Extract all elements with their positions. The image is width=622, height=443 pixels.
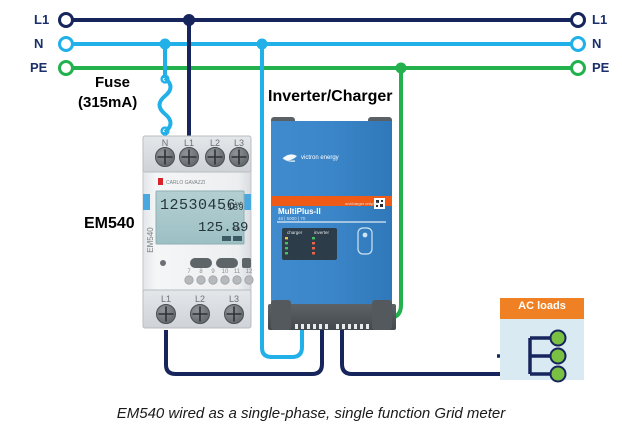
- bus-label-left-l1: L1: [34, 12, 49, 27]
- ac-loads-title: AC loads: [500, 300, 584, 312]
- wiring-diagram: N L1 L2 L3 L1 L2 L3 7 8 9 10 11 12 12530…: [0, 0, 622, 443]
- fuse-label-line1: Fuse: [95, 74, 130, 91]
- bus-label-right-n: N: [592, 36, 601, 51]
- inverter-panel-right-title: inverter: [314, 230, 330, 235]
- inverter-charger: [268, 117, 396, 330]
- meter-top-terminal-L3: L3: [234, 138, 244, 148]
- meter-bottom-terminal-L3: L3: [229, 294, 239, 304]
- lcd-primary-unit: kWh: [235, 201, 243, 207]
- diagram-caption: EM540 wired as a single-phase, single fu…: [0, 405, 622, 422]
- inverter-title: Inverter/Charger: [268, 88, 393, 106]
- bus-label-right-pe: PE: [592, 60, 609, 75]
- meter-side-text: EM540: [146, 227, 155, 253]
- meter-brand-text: CARLO GAVAZZI: [166, 180, 205, 186]
- inverter-model-text: MultiPlus-II: [278, 207, 321, 216]
- bus-label-left-pe: PE: [30, 60, 47, 75]
- meter-bottom-terminal-L2: L2: [195, 294, 205, 304]
- fuse-label-line2: (315mA): [78, 94, 137, 111]
- inverter-panel-left-title: charger: [287, 230, 303, 235]
- lcd-secondary-value: 125.89: [198, 220, 248, 236]
- meter-top-terminal-L1: L1: [184, 138, 194, 148]
- bus-label-right-l1: L1: [592, 12, 607, 27]
- meter-top-terminal-N: N: [162, 138, 169, 148]
- bus-label-left-n: N: [34, 36, 43, 51]
- meter-model-label: EM540: [84, 215, 135, 233]
- inverter-model-sub-text: 48 | 5000 | 70: [278, 216, 306, 221]
- meter-top-terminal-L2: L2: [210, 138, 220, 148]
- inverter-brand-text: victron energy: [301, 155, 339, 161]
- svg-text:12: 12: [246, 269, 253, 275]
- svg-text:11: 11: [234, 269, 241, 275]
- inverter-qr-label: on/charger only/off: [345, 201, 379, 206]
- meter-bottom-terminal-L1: L1: [161, 294, 171, 304]
- meter-bottom-screws: [157, 305, 244, 324]
- lcd-secondary-unit: kW: [234, 227, 240, 233]
- svg-text:10: 10: [222, 269, 229, 275]
